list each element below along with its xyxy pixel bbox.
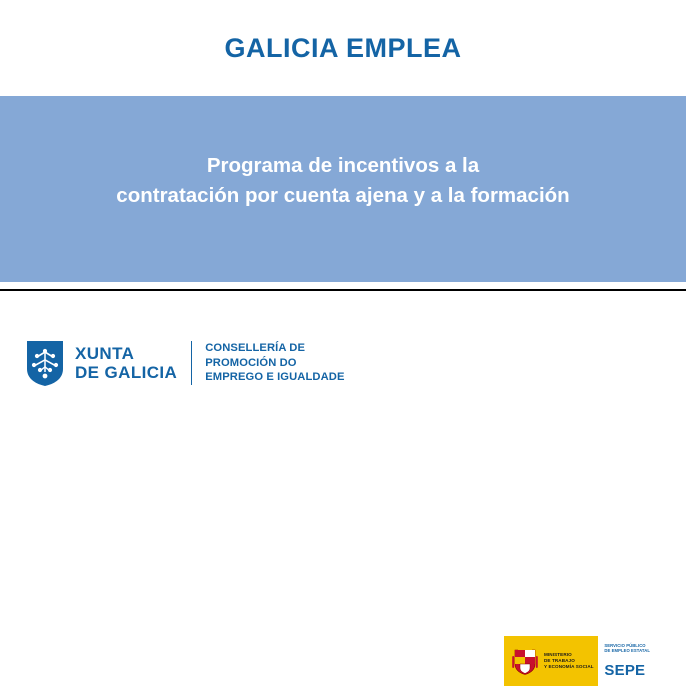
ministerio-sepe-logo: MINISTERIO DE TRABAJO Y ECONOMÍA SOCIAL … — [504, 636, 664, 686]
ministerio-panel: MINISTERIO DE TRABAJO Y ECONOMÍA SOCIAL — [504, 636, 597, 686]
sepe-line-2: DE EMPLEO ESTATAL — [604, 648, 664, 653]
spain-coat-of-arms-icon — [511, 644, 539, 678]
conselleria-line-2: PROMOCIÓN DO — [205, 356, 344, 371]
footer-logos: XUNTA DE GALICIA CONSELLERÍA DE PROMOCIÓ… — [0, 291, 686, 410]
sepe-description: SERVICIO PÚBLICO DE EMPLEO ESTATAL — [598, 636, 664, 654]
ministerio-line-3: Y ECONOMÍA SOCIAL — [544, 664, 594, 670]
logo-divider — [191, 341, 192, 385]
subtitle-line-1: Programa de incentivos a la — [33, 151, 653, 181]
xunta-wordmark: XUNTA DE GALICIA — [75, 344, 177, 382]
xunta-de-galicia-logo: XUNTA DE GALICIA CONSELLERÍA DE PROMOCIÓ… — [24, 339, 345, 387]
conselleria-text: CONSELLERÍA DE PROMOCIÓN DO EMPREGO E IG… — [205, 341, 344, 386]
xunta-wordmark-line-1: XUNTA — [75, 344, 177, 363]
ministerio-text: MINISTERIO DE TRABAJO Y ECONOMÍA SOCIAL — [544, 652, 594, 670]
subtitle-band: Programa de incentivos a la contratación… — [0, 96, 686, 282]
xunta-wordmark-line-2: DE GALICIA — [75, 363, 177, 382]
conselleria-line-1: CONSELLERÍA DE — [205, 341, 344, 356]
page-title: GALICIA EMPLEA — [224, 33, 461, 64]
conselleria-line-3: EMPREGO E IGUALDADE — [205, 370, 344, 385]
subtitle-line-2: contratación por cuenta ajena y a la for… — [33, 181, 653, 211]
slide-page: GALICIA EMPLEA Programa de incentivos a … — [0, 0, 686, 410]
title-zone: GALICIA EMPLEA — [0, 0, 686, 96]
sepe-panel: SERVICIO PÚBLICO DE EMPLEO ESTATAL SEPE — [597, 636, 664, 686]
sepe-acronym: SEPE — [604, 662, 645, 679]
program-subtitle: Programa de incentivos a la contratación… — [33, 151, 653, 226]
xunta-shield-icon — [24, 339, 66, 387]
